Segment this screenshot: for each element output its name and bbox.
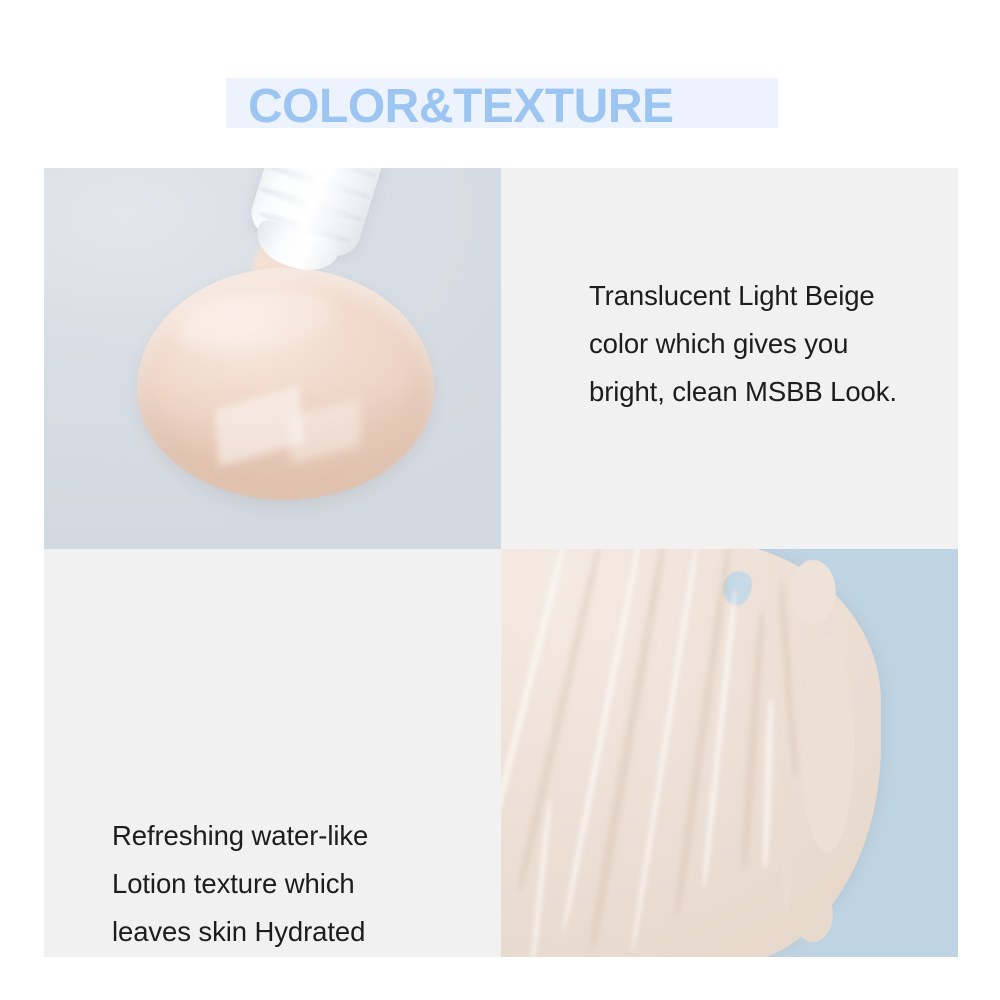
header: COLOR&TEXTURE <box>0 0 1000 168</box>
content-grid: Translucent Light Beige color which give… <box>44 168 958 957</box>
page-title: COLOR&TEXTURE <box>248 76 848 138</box>
texture-description-panel: Refreshing water-like Lotion texture whi… <box>44 549 501 957</box>
color-description-text: Translucent Light Beige color which give… <box>589 272 897 416</box>
cream-texture-photo <box>501 549 958 957</box>
cream-dome <box>137 268 434 500</box>
texture-description-text: Refreshing water-like Lotion texture whi… <box>112 812 368 957</box>
color-description-panel: Translucent Light Beige color which give… <box>501 168 958 549</box>
dome-highlight-top <box>173 279 340 363</box>
bb-cream-dome-photo <box>44 168 501 549</box>
